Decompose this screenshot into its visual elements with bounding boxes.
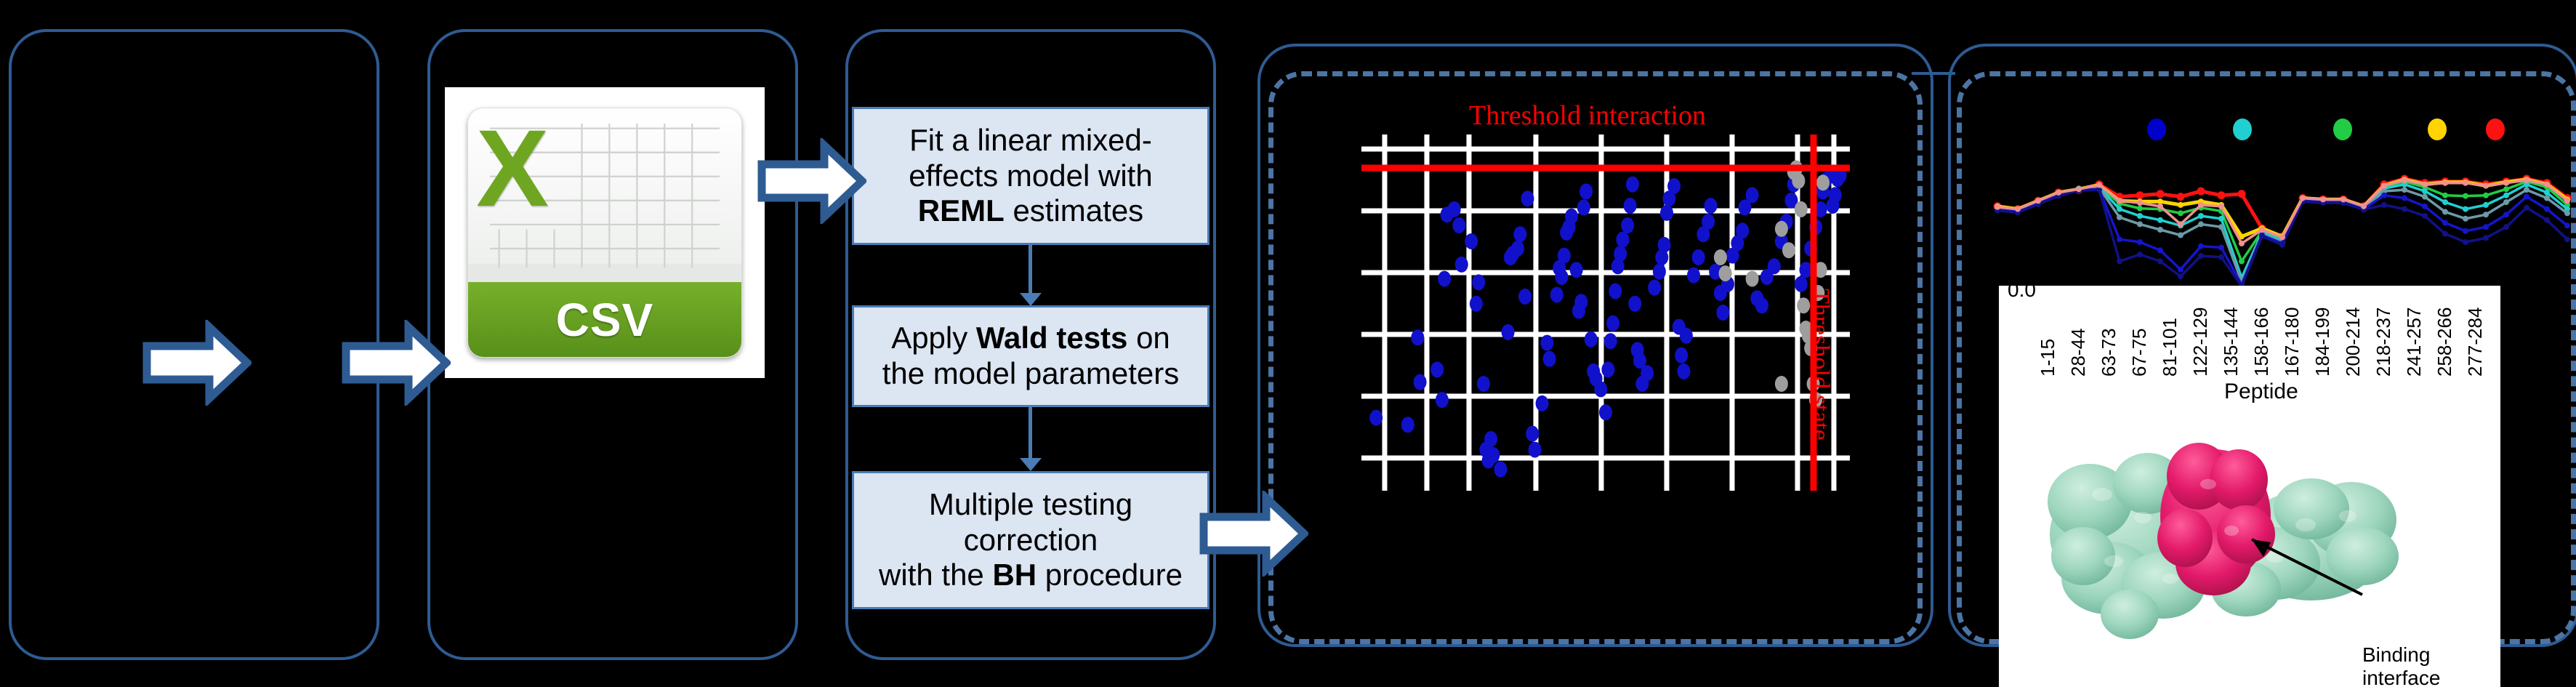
peptide-tick-9: 184-199: [2311, 308, 2334, 377]
panel-5-top-rail: [1912, 72, 1955, 75]
flow-arrow-4[interactable]: [1199, 491, 1308, 576]
process-box-wald-text: Apply Wald tests onthe model parameters: [882, 321, 1180, 391]
peptide-tick-5: 122-129: [2189, 308, 2212, 377]
process-box-wald[interactable]: Apply Wald tests onthe model parameters: [852, 305, 1209, 407]
peptide-uptake-chart: [1992, 156, 2573, 287]
legend-dot-t5: [2486, 118, 2505, 140]
scatter-svg: [1361, 134, 1850, 491]
binding-interface-annotation: Binding interface: [2362, 643, 2440, 687]
peptide-tick-8: 167-180: [2281, 308, 2303, 377]
process-box-bh-text: Multiple testingcorrectionwith the BH pr…: [879, 487, 1183, 593]
legend-dot-t2: [2233, 118, 2252, 140]
peptide-tick-14: 277-284: [2464, 308, 2487, 377]
peptide-tick-13: 258-266: [2434, 308, 2456, 377]
protein-structure-figure: [2021, 407, 2486, 647]
peptide-tick-6: 135-144: [2220, 308, 2242, 377]
connector-arrowhead-2: [1020, 458, 1042, 471]
legend-dot-t1: [2147, 118, 2166, 140]
volcano-scatter-plot: Threshold interaction: [1361, 134, 1850, 491]
peptide-legend: [1992, 114, 2573, 143]
process-box-reml[interactable]: Fit a linear mixed-effects model withREM…: [852, 107, 1209, 245]
peptide-tick-0: 1-15: [2037, 339, 2059, 377]
peptide-tick-1: 28-44: [2067, 329, 2090, 377]
peptide-series-cyan: [1997, 185, 2567, 278]
peptide-tick-4: 81-101: [2159, 318, 2181, 377]
peptide-x-tick-labels: 1-1528-4463-7367-7581-101122-129135-1441…: [1999, 291, 2500, 393]
flow-arrow-1[interactable]: [142, 320, 251, 406]
legend-dot-t4: [2428, 118, 2447, 140]
peptide-tick-3: 67-75: [2128, 329, 2151, 377]
figure-canvas: X CSV Fit a linear mixed-effects model w…: [0, 0, 2576, 687]
peptide-axis-title: Peptide: [2224, 379, 2298, 404]
peptide-series-green: [1997, 182, 2567, 262]
csv-file-icon[interactable]: X CSV: [445, 87, 765, 378]
peptide-tick-12: 241-257: [2403, 308, 2426, 377]
legend-dot-t3: [2333, 118, 2352, 140]
peptide-lines-svg: [1992, 156, 2573, 287]
peptide-tick-11: 218-237: [2372, 308, 2395, 377]
connector-reml-wald: [1029, 245, 1032, 298]
csv-label-strip: CSV: [468, 282, 741, 357]
process-box-reml-text: Fit a linear mixed-effects model withREM…: [909, 123, 1152, 229]
peptide-tick-2: 63-73: [2098, 329, 2120, 377]
peptide-tick-10: 200-214: [2342, 308, 2364, 377]
connector-arrowhead-1: [1020, 293, 1042, 306]
peptide-tick-7: 158-166: [2250, 308, 2273, 377]
flow-arrow-3[interactable]: [757, 138, 866, 224]
connector-wald-bh: [1029, 407, 1032, 463]
binding-interface-line1: Binding: [2362, 643, 2440, 667]
binding-interface-line2: interface: [2362, 667, 2440, 687]
process-box-bh[interactable]: Multiple testingcorrectionwith the BH pr…: [852, 471, 1209, 609]
csv-label-text: CSV: [556, 293, 654, 347]
threshold-state-label: Threshold state: [1806, 289, 1834, 441]
csv-badge: X CSV: [467, 108, 742, 358]
excel-x-letter: X: [476, 113, 549, 222]
flow-arrow-2[interactable]: [342, 320, 451, 406]
threshold-interaction-label: Threshold interaction: [1469, 100, 1706, 132]
